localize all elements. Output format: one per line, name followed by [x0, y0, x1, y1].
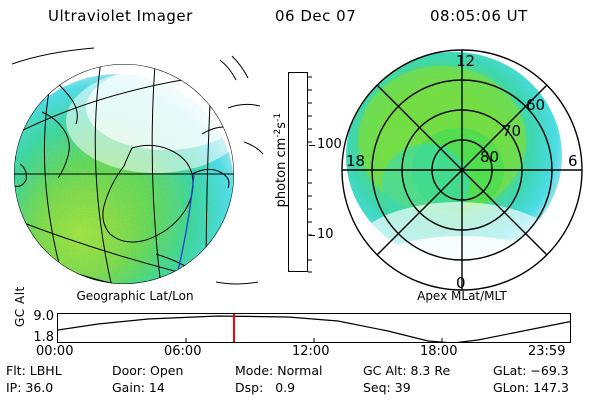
mlt-label-12: 12 — [456, 52, 475, 70]
geographic-panel-caption: Geographic Lat/Lon — [6, 290, 264, 302]
geographic-aurora-plot — [6, 46, 264, 294]
apex-mlt-panel[interactable]: 12 6 0 18 60 70 80 — [330, 44, 594, 296]
mlt-label-18: 18 — [346, 152, 365, 170]
status-seq: Seq: 39 — [363, 382, 493, 395]
status-ip: IP: 36.0 — [6, 382, 112, 395]
status-glon: GLon: 147.3 — [493, 382, 593, 395]
status-gain: Gain: 14 — [112, 382, 235, 395]
status-flt: Flt: LBHL — [6, 365, 112, 378]
status-bar: Flt: LBHL Door: Open Mode: Normal GC Alt… — [6, 363, 594, 397]
colorbar-minor-ticks — [308, 72, 316, 273]
timeline-xtick-0600: 06:00 — [164, 345, 201, 358]
colorbar-gradient — [289, 73, 307, 271]
observation-time: 08:05:06 UT — [430, 9, 528, 24]
colorbar-label-exp2: -1 — [273, 113, 283, 122]
colorbar-label-main: photon cm — [274, 138, 289, 208]
timeline-xtick-2359: 23:59 — [528, 345, 565, 358]
timeline-ytick-low: 1.8 — [24, 331, 54, 344]
timeline-ytick-high: 9.0 — [24, 310, 54, 323]
mlat-label-60: 60 — [526, 96, 545, 114]
timeline-xtick-1800: 18:00 — [420, 345, 457, 358]
apex-panel-caption: Apex MLat/MLT — [330, 290, 594, 302]
apex-mlt-dial-plot: 12 6 0 18 60 70 80 — [330, 44, 594, 296]
status-row-1: Flt: LBHL Door: Open Mode: Normal GC Alt… — [6, 363, 594, 380]
timeline-xtick-0000: 00:00 — [36, 345, 73, 358]
status-dsp: Dsp: 0.9 — [235, 382, 363, 395]
status-mode: Mode: Normal — [235, 365, 363, 378]
status-gc-alt: GC Alt: 8.3 Re — [363, 365, 493, 378]
orbit-altitude-trace — [58, 314, 570, 342]
colorbar-label-mid: s — [274, 122, 289, 129]
uv-imager-display: Ultraviolet Imager 06 Dec 07 08:05:06 UT — [0, 0, 600, 400]
mlat-label-70: 70 — [502, 122, 521, 140]
mlt-label-6: 6 — [568, 152, 578, 170]
colorbar-label-exp1: -2 — [273, 129, 283, 138]
geographic-image-panel[interactable] — [6, 46, 264, 294]
status-glat: GLat: −69.3 — [493, 365, 593, 378]
colorbar-axis-label: photon cm-2s-1 — [273, 65, 289, 255]
colorbar-swatch — [288, 72, 308, 272]
instrument-title: Ultraviolet Imager — [48, 9, 193, 24]
mlat-label-80: 80 — [480, 148, 499, 166]
orbit-altitude-timeline[interactable] — [57, 313, 571, 343]
status-door: Door: Open — [112, 365, 235, 378]
timeline-xtick-1200: 12:00 — [292, 345, 329, 358]
status-row-2: IP: 36.0 Gain: 14 Dsp: 0.9 Seq: 39 GLon:… — [6, 380, 594, 397]
colorbar: photon cm-2s-1 100 10 — [266, 60, 328, 286]
observation-date: 06 Dec 07 — [275, 9, 356, 24]
